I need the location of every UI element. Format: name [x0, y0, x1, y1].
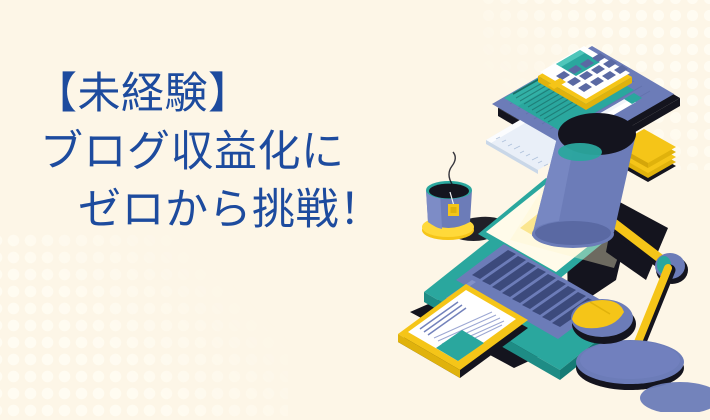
headline-line-2: ブログ収益化に	[0, 124, 420, 182]
halftone-dots-bottom-left	[0, 232, 288, 420]
headline-line-3: ゼロから挑戦！	[0, 182, 420, 240]
desk-workspace-illustration	[380, 12, 710, 412]
computer-mouse	[571, 299, 636, 344]
headline-line-1: 【未経験】	[0, 66, 420, 124]
blog-banner: 【未経験】 ブログ収益化に ゼロから挑戦！	[0, 0, 710, 420]
coffee-mug	[422, 152, 474, 240]
page-title: 【未経験】 ブログ収益化に ゼロから挑戦！	[0, 66, 420, 240]
